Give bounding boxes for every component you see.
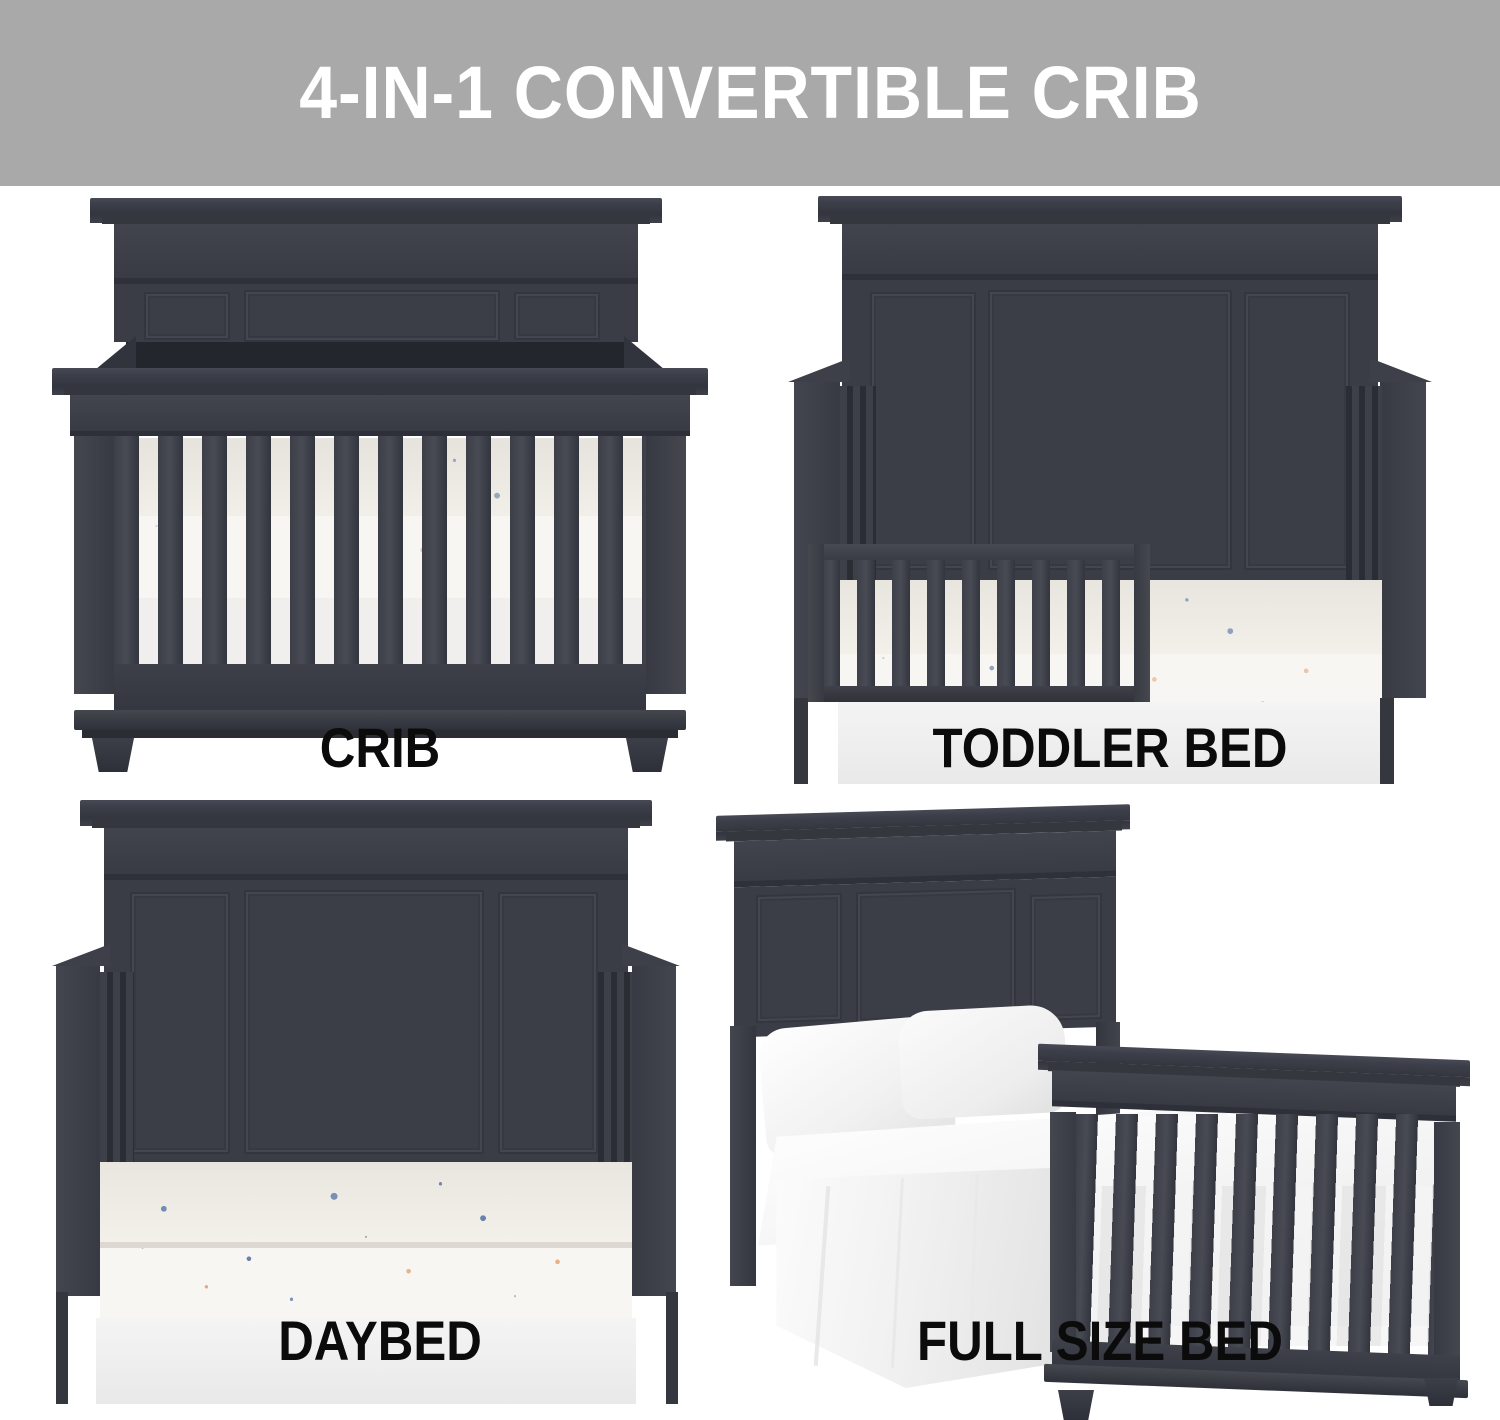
panel-crib[interactable]: CRIB xyxy=(30,186,730,786)
caption-full-size-bed: FULL SIZE BED xyxy=(748,1305,1452,1377)
page-title: 4-IN-1 CONVERTIBLE CRIB xyxy=(299,56,1201,130)
panel-daybed[interactable]: DAYBED xyxy=(30,786,730,1379)
toddler-bed-image xyxy=(760,186,1460,712)
header-banner: 4-IN-1 CONVERTIBLE CRIB xyxy=(0,0,1500,186)
daybed-image xyxy=(30,786,730,1305)
caption-daybed: DAYBED xyxy=(72,1305,688,1377)
caption-toddler-bed: TODDLER BED xyxy=(802,712,1418,784)
panel-toddler-bed[interactable]: TODDLER BED xyxy=(760,186,1460,786)
full-size-bed-image xyxy=(700,786,1500,1305)
panel-full-size-bed[interactable]: FULL SIZE BED xyxy=(700,786,1500,1379)
caption-crib: CRIB xyxy=(72,712,688,784)
crib-image xyxy=(30,186,730,712)
product-configuration-grid: CRIB xyxy=(0,186,1500,1379)
